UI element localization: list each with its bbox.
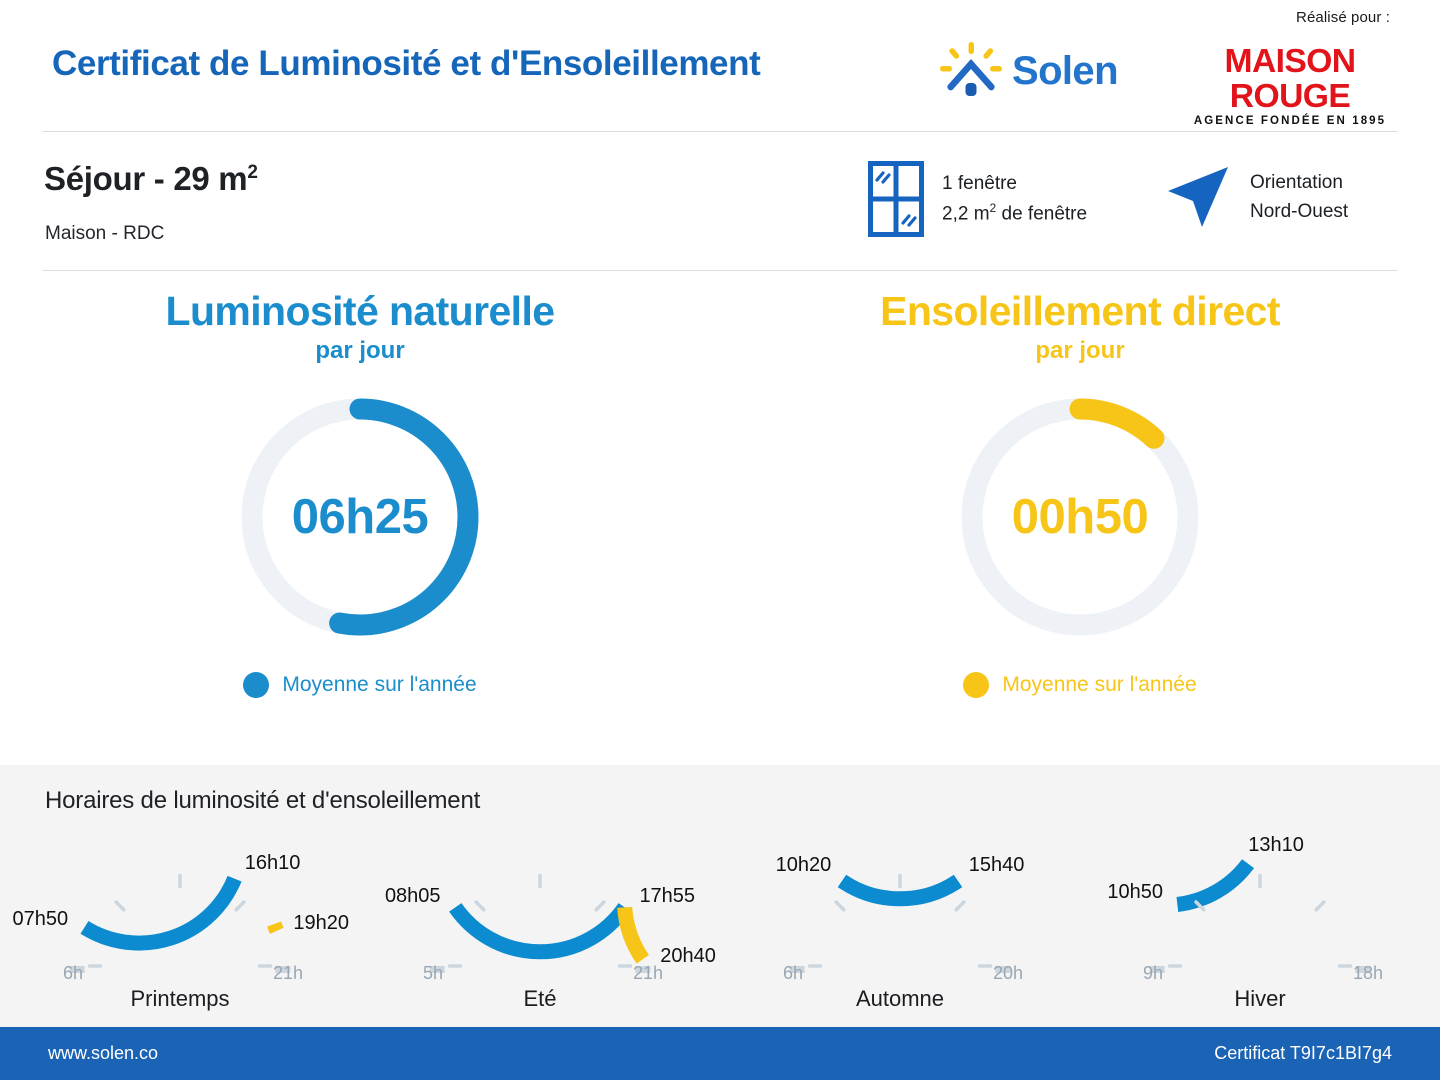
certificate-page: Réalisé pour : Certificat de Luminosité …	[0, 0, 1440, 1080]
room-name: Séjour - 29 m2	[44, 160, 258, 198]
page-header: Réalisé pour : Certificat de Luminosité …	[0, 0, 1440, 130]
gauge-axis-start: 9h	[1143, 963, 1163, 984]
seasons-section: Horaires de luminosité et d'ensoleilleme…	[0, 765, 1440, 1027]
window-area-value: 2,2 m	[942, 203, 990, 224]
sunlight-subtitle: par jour	[720, 337, 1440, 365]
gauge-season-label: Eté	[360, 986, 720, 1012]
daylight-metric: Luminosité naturelle par jour 06h25 Moye…	[0, 290, 720, 698]
sunlight-legend-dot	[963, 672, 989, 698]
daylight-title: Luminosité naturelle	[0, 290, 720, 333]
footer-website[interactable]: www.solen.co	[48, 1043, 158, 1064]
metrics-section: Luminosité naturelle par jour 06h25 Moye…	[0, 290, 1440, 760]
gauge-track	[797, 966, 1003, 973]
gauge-daylight-arc	[455, 907, 624, 951]
daylight-legend-label: Moyenne sur l'année	[282, 673, 476, 697]
sun-house-icon	[940, 42, 1002, 100]
client-tagline: AGENCE FONDÉE EN 1895	[1185, 115, 1395, 127]
orientation-label: Orientation	[1250, 168, 1348, 197]
solen-logo: Solen	[940, 42, 1118, 100]
season-gauge-row: 07h5016h1019h206h21hPrintemps08h0517h552…	[0, 837, 1440, 1012]
gauge-daylight-start-label: 10h50	[1107, 881, 1163, 904]
gauge-sunlight-arc	[625, 907, 643, 959]
gauge-track	[77, 966, 283, 973]
room-name-text: Séjour - 29 m	[44, 160, 247, 197]
gauge-tick	[236, 902, 244, 910]
gauge-tick	[596, 902, 604, 910]
orientation-value: Nord-Ouest	[1250, 197, 1348, 226]
gauge-axis-end: 21h	[633, 963, 663, 984]
roominfo-divider	[42, 270, 1398, 271]
gauge-daylight-start-label: 07h50	[13, 908, 69, 931]
gauge-axis-start: 5h	[423, 963, 443, 984]
gauge-tick	[956, 902, 964, 910]
sunlight-value: 00h50	[950, 387, 1210, 647]
page-footer: www.solen.co Certificat T9I7c1BI7g4	[0, 1027, 1440, 1080]
gauge-axis-end: 21h	[273, 963, 303, 984]
window-count: 1 fenêtre	[942, 169, 1087, 198]
gauge-sunlight-arc	[274, 924, 277, 931]
solen-wordmark: Solen	[1012, 51, 1118, 91]
season-gauge: 10h5013h109h18hHiver	[1080, 837, 1440, 1012]
page-title: Certificat de Luminosité et d'Ensoleille…	[52, 44, 760, 84]
gauge-daylight-end-label: 15h40	[969, 854, 1025, 877]
window-details: 1 fenêtre 2,2 m2 de fenêtre	[942, 169, 1087, 228]
season-gauge: 10h2015h406h20hAutomne	[720, 837, 1080, 1012]
room-name-superscript: 2	[247, 162, 257, 183]
season-gauge-chart	[1135, 841, 1385, 973]
sunlight-metric: Ensoleillement direct par jour 00h50 Moy…	[720, 290, 1440, 698]
gauge-tick	[116, 902, 124, 910]
gauge-daylight-arc	[84, 879, 234, 943]
season-gauge: 07h5016h1019h206h21hPrintemps	[0, 837, 360, 1012]
gauge-axis-end: 18h	[1353, 963, 1383, 984]
sunlight-donut: 00h50	[950, 387, 1210, 647]
room-location: Maison - RDC	[45, 223, 164, 245]
gauge-daylight-end-label: 16h10	[245, 852, 301, 875]
sunlight-title: Ensoleillement direct	[720, 290, 1440, 333]
compass-arrow-icon	[1160, 161, 1234, 233]
gauge-tick	[836, 902, 844, 910]
client-name: MAISON ROUGE	[1183, 44, 1397, 113]
gauge-sunlight-end-label: 19h20	[293, 912, 349, 935]
gauge-sunlight-end-label: 20h40	[660, 945, 716, 968]
gauge-daylight-end-label: 13h10	[1248, 834, 1304, 857]
room-info-section: Séjour - 29 m2 Maison - RDC 1 fenêtre 2,…	[0, 131, 1440, 270]
window-info: 1 fenêtre 2,2 m2 de fenêtre	[868, 161, 1087, 237]
gauge-daylight-arc	[1177, 864, 1248, 905]
gauge-season-label: Hiver	[1080, 986, 1440, 1012]
gauge-axis-start: 6h	[63, 963, 83, 984]
gauge-tick	[476, 902, 484, 910]
realise-pour-label: Réalisé pour :	[1296, 9, 1390, 26]
gauge-season-label: Automne	[720, 986, 1080, 1012]
client-logo: MAISON ROUGE AGENCE FONDÉE EN 1895	[1185, 44, 1395, 127]
gauge-daylight-end-label: 17h55	[639, 885, 695, 908]
season-gauge: 08h0517h5520h405h21hEté	[360, 837, 720, 1012]
gauge-axis-start: 6h	[783, 963, 803, 984]
window-icon	[868, 161, 924, 237]
gauge-season-label: Printemps	[0, 986, 360, 1012]
gauge-axis-end: 20h	[993, 963, 1023, 984]
gauge-daylight-start-label: 08h05	[385, 885, 441, 908]
footer-certificate-id: Certificat T9I7c1BI7g4	[1214, 1043, 1392, 1064]
window-area-suffix: de fenêtre	[996, 203, 1087, 224]
orientation-details: Orientation Nord-Ouest	[1250, 168, 1348, 227]
daylight-donut: 06h25	[230, 387, 490, 647]
seasons-title: Horaires de luminosité et d'ensoleilleme…	[45, 787, 480, 815]
daylight-subtitle: par jour	[0, 337, 720, 365]
gauge-daylight-start-label: 10h20	[776, 854, 832, 877]
gauge-track	[437, 966, 643, 973]
daylight-value: 06h25	[230, 387, 490, 647]
gauge-track	[1157, 966, 1363, 973]
window-area: 2,2 m2 de fenêtre	[942, 199, 1087, 229]
daylight-legend: Moyenne sur l'année	[0, 672, 720, 698]
gauge-tick	[1316, 902, 1324, 910]
sunlight-legend-label: Moyenne sur l'année	[1002, 673, 1196, 697]
sunlight-legend: Moyenne sur l'année	[720, 672, 1440, 698]
daylight-legend-dot	[243, 672, 269, 698]
orientation-info: Orientation Nord-Ouest	[1160, 161, 1348, 233]
season-gauge-chart	[415, 841, 665, 973]
